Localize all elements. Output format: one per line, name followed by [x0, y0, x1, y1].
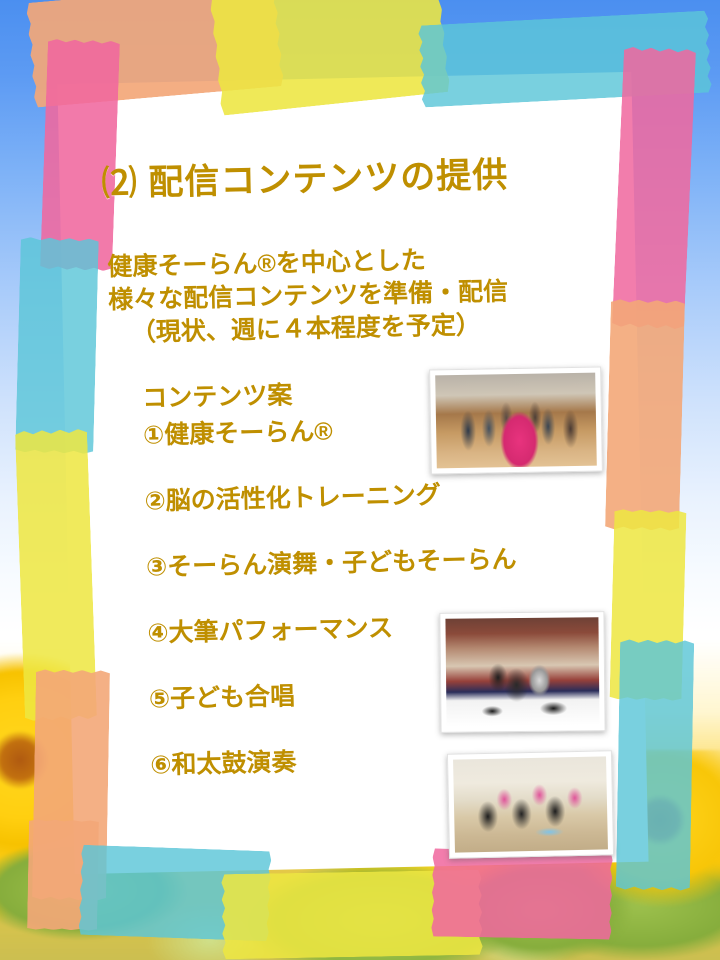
list-item: ⑤子ども合唱	[148, 671, 519, 715]
slide-text-layer: ⑵ 配信コンテンツの提供 健康そーらん®を中心とした 様々な配信コンテンツを準備…	[57, 72, 648, 874]
list-item: ⑥和太鼓演奏	[150, 737, 521, 781]
list-item: ②脳の活性化トレーニング	[144, 473, 515, 517]
list-item: ④大筆パフォーマンス	[147, 605, 518, 649]
list-item: ①健康そーらん®	[143, 407, 514, 451]
presentation-slide: ⑵ 配信コンテンツの提供 健康そーらん®を中心とした 様々な配信コンテンツを準備…	[0, 0, 720, 960]
list-item: ③そーらん演舞・子どもそーらん	[146, 539, 517, 583]
content-plan-list: コンテンツ案 ①健康そーらん® ②脳の活性化トレーニング ③そーらん演舞・子ども…	[142, 374, 521, 781]
body-paragraph: 健康そーらん®を中心とした 様々な配信コンテンツを準備・配信 （現状、週に４本程…	[107, 243, 509, 351]
page-title: ⑵ 配信コンテンツの提供	[101, 147, 509, 207]
